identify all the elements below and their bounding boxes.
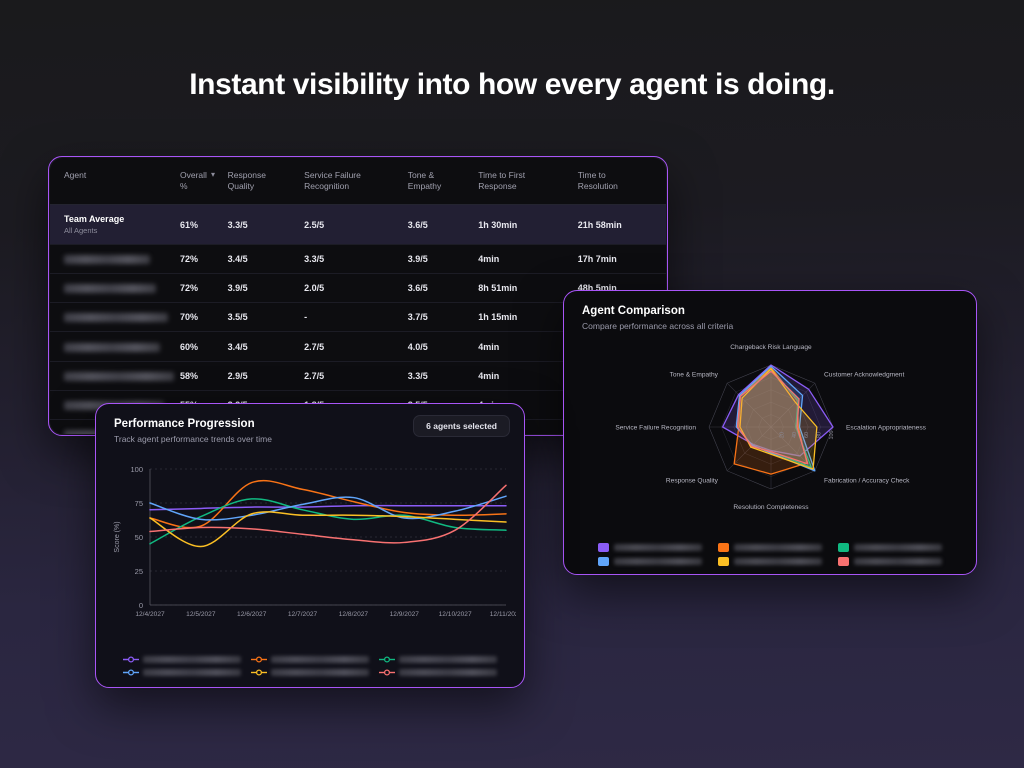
row-response: 3.4/5 <box>228 332 305 361</box>
legend-line-marker-icon <box>251 655 267 664</box>
row-tone: 3.3/5 <box>408 361 479 390</box>
radar-axis-label: Tone & Empathy <box>670 371 719 378</box>
row-ttres: 17h 7min <box>578 245 666 274</box>
legend-item[interactable] <box>838 557 942 566</box>
column-header-agent[interactable]: Agent <box>50 158 180 205</box>
legend-item[interactable] <box>838 543 942 552</box>
legend-label-redacted <box>734 558 822 565</box>
radar-chart-legend <box>564 543 976 566</box>
legend-label-redacted <box>614 544 702 551</box>
agent-comparison-subtitle: Compare performance across all criteria <box>582 321 958 331</box>
chevron-down-icon[interactable]: ▾ <box>211 170 215 180</box>
legend-line-marker-icon <box>123 655 139 664</box>
team-average-subtitle: All Agents <box>64 226 174 235</box>
row-overall: 72% <box>180 245 228 274</box>
legend-item[interactable] <box>123 655 241 664</box>
response-line2: Quality <box>228 181 254 191</box>
row-agent-cell <box>50 303 180 332</box>
team-average-name: Team Average <box>64 214 174 224</box>
row-response: 3.4/5 <box>228 245 305 274</box>
row-tone: 3.9/5 <box>408 245 479 274</box>
radar-axis-label: Service Failure Recognition <box>615 425 696 432</box>
team-average-overall: 61% <box>180 205 228 245</box>
row-sfr: 2.7/5 <box>304 361 408 390</box>
row-tone: 3.6/5 <box>408 274 479 303</box>
y-axis-tick-label: 50 <box>135 533 143 542</box>
sfr-line2: Recognition <box>304 181 349 191</box>
legend-item[interactable] <box>598 543 702 552</box>
row-response: 3.9/5 <box>228 274 305 303</box>
agent-comparison-header: Agent Comparison Compare performance acr… <box>564 291 976 331</box>
legend-color-swatch <box>838 557 849 566</box>
legend-label-redacted <box>734 544 822 551</box>
sfr-line1: Service Failure <box>304 170 361 180</box>
ttfr-line2: Response <box>478 181 516 191</box>
table-header-row: Agent Overall % ▾ Response Qua <box>50 158 666 205</box>
row-response: 3.5/5 <box>228 303 305 332</box>
radar-axis-label: Chargeback Risk Language <box>730 344 812 351</box>
legend-item[interactable] <box>718 557 822 566</box>
team-average-tone: 3.6/5 <box>408 205 479 245</box>
column-header-time-to-resolution[interactable]: Time to Resolution <box>578 158 666 205</box>
legend-label-redacted <box>271 669 369 676</box>
radar-tick-label: 100 <box>829 431 835 440</box>
legend-color-swatch <box>718 557 729 566</box>
redacted-agent-email <box>64 255 150 264</box>
ttres-line2: Resolution <box>578 181 618 191</box>
line-series <box>150 512 506 547</box>
column-header-time-to-first-response[interactable]: Time to First Response <box>478 158 577 205</box>
x-axis-tick-label: 12/5/2027 <box>186 611 216 618</box>
legend-item[interactable] <box>379 668 497 677</box>
radar-axis-label: Resolution Completeness <box>733 504 809 511</box>
row-sfr: - <box>304 303 408 332</box>
legend-label-redacted <box>854 544 942 551</box>
x-axis-tick-label: 12/11/2027 <box>490 611 516 618</box>
column-header-service-failure-recognition[interactable]: Service Failure Recognition <box>304 158 408 205</box>
legend-item[interactable] <box>123 668 241 677</box>
radar-tick-label: 60 <box>804 432 810 438</box>
team-average-sfr: 2.5/5 <box>304 205 408 245</box>
legend-color-swatch <box>598 543 609 552</box>
row-response: 2.9/5 <box>228 361 305 390</box>
y-axis-tick-label: 0 <box>139 601 143 610</box>
row-overall: 70% <box>180 303 228 332</box>
redacted-agent-email <box>64 284 156 293</box>
row-tone: 3.7/5 <box>408 303 479 332</box>
legend-color-swatch <box>598 557 609 566</box>
team-average-ttres: 21h 58min <box>578 205 666 245</box>
team-average-ttfr: 1h 30min <box>478 205 577 245</box>
y-axis-tick-label: 100 <box>130 465 143 474</box>
column-header-overall-label: Overall % <box>180 170 207 192</box>
table-row-team-average[interactable]: Team Average All Agents 61% 3.3/5 2.5/5 … <box>50 205 666 245</box>
legend-line-marker-icon <box>379 655 395 664</box>
x-axis-tick-label: 12/4/2027 <box>135 611 165 618</box>
column-header-agent-label: Agent <box>64 170 86 180</box>
tone-line2: Empathy <box>408 181 442 191</box>
row-tone: 4.0/5 <box>408 332 479 361</box>
team-average-agent-cell: Team Average All Agents <box>50 205 180 245</box>
legend-item[interactable] <box>598 557 702 566</box>
x-axis-tick-label: 12/10/2027 <box>439 611 472 618</box>
x-axis-tick-label: 12/8/2027 <box>339 611 369 618</box>
row-agent-cell <box>50 361 180 390</box>
row-sfr: 3.3/5 <box>304 245 408 274</box>
line-series <box>150 481 506 528</box>
legend-item[interactable] <box>379 655 497 664</box>
column-header-tone-empathy[interactable]: Tone & Empathy <box>408 158 479 205</box>
radar-axis-label: Escalation Appropriateness <box>846 425 927 432</box>
row-sfr: 2.0/5 <box>304 274 408 303</box>
legend-label-redacted <box>854 558 942 565</box>
legend-item[interactable] <box>718 543 822 552</box>
performance-progression-card: Performance Progression Track agent perf… <box>95 403 525 688</box>
y-axis-tick-label: 75 <box>135 499 143 508</box>
overall-line2: % <box>180 181 188 191</box>
redacted-agent-email <box>64 372 174 381</box>
legend-label-redacted <box>271 656 369 663</box>
row-overall: 72% <box>180 274 228 303</box>
column-header-overall-sortable[interactable]: Overall % ▾ <box>180 170 215 192</box>
row-overall: 60% <box>180 332 228 361</box>
column-header-response-quality[interactable]: Response Quality <box>228 158 305 205</box>
x-axis-tick-label: 12/9/2027 <box>390 611 420 618</box>
line-series <box>150 506 506 510</box>
x-axis-tick-label: 12/6/2027 <box>237 611 267 618</box>
line-chart-svg: 025507510012/4/202712/5/202712/6/202712/… <box>106 459 516 639</box>
agent-table-header: Agent Overall % ▾ Response Qua <box>50 158 666 205</box>
radar-tick-label: 80 <box>817 432 823 438</box>
legend-line-marker-icon <box>251 668 267 677</box>
x-axis-tick-label: 12/7/2027 <box>288 611 318 618</box>
redacted-agent-email <box>64 343 160 352</box>
legend-label-redacted <box>399 669 497 676</box>
legend-label-redacted <box>399 656 497 663</box>
radar-chart-plot: 20406080100Chargeback Risk LanguageCusto… <box>564 335 977 520</box>
ttres-line1: Time to <box>578 170 606 180</box>
radar-chart-svg: 20406080100Chargeback Risk LanguageCusto… <box>564 335 977 520</box>
table-row[interactable]: 72%3.4/53.3/53.9/54min17h 7min <box>50 245 666 274</box>
page-title: Instant visibility into how every agent … <box>0 68 1024 102</box>
radar-tick-label: 40 <box>792 432 798 438</box>
agent-comparison-title: Agent Comparison <box>582 305 958 317</box>
row-ttfr: 4min <box>478 245 577 274</box>
legend-color-swatch <box>718 543 729 552</box>
legend-label-redacted <box>143 669 241 676</box>
agent-comparison-card: Agent Comparison Compare performance acr… <box>563 290 977 575</box>
radar-axis-label: Fabrication / Accuracy Check <box>824 478 910 485</box>
y-axis-label: Score (%) <box>114 521 121 552</box>
row-agent-cell <box>50 274 180 303</box>
performance-header: Performance Progression Track agent perf… <box>96 404 524 444</box>
redacted-agent-email <box>64 313 168 322</box>
row-sfr: 2.7/5 <box>304 332 408 361</box>
legend-label-redacted <box>143 656 241 663</box>
tone-line1: Tone & <box>408 170 434 180</box>
legend-line-marker-icon <box>123 668 139 677</box>
row-agent-cell <box>50 332 180 361</box>
overall-line1: Overall <box>180 170 207 180</box>
radar-axis-label: Response Quality <box>666 478 719 485</box>
line-chart-plot: 025507510012/4/202712/5/202712/6/202712/… <box>106 459 516 639</box>
agents-selected-badge[interactable]: 6 agents selected <box>413 415 510 437</box>
legend-color-swatch <box>838 543 849 552</box>
response-line1: Response <box>228 170 266 180</box>
line-chart-legend <box>96 655 524 677</box>
radar-axis-label: Customer Acknowledgment <box>824 371 904 378</box>
column-header-overall[interactable]: Overall % ▾ <box>180 158 228 205</box>
legend-label-redacted <box>614 558 702 565</box>
team-average-response: 3.3/5 <box>228 205 305 245</box>
legend-item[interactable] <box>251 668 369 677</box>
ttfr-line1: Time to First <box>478 170 525 180</box>
y-axis-tick-label: 25 <box>135 567 143 576</box>
radar-tick-label: 20 <box>779 432 785 438</box>
row-overall: 58% <box>180 361 228 390</box>
row-agent-cell <box>50 245 180 274</box>
line-series <box>150 485 506 543</box>
legend-line-marker-icon <box>379 668 395 677</box>
legend-item[interactable] <box>251 655 369 664</box>
